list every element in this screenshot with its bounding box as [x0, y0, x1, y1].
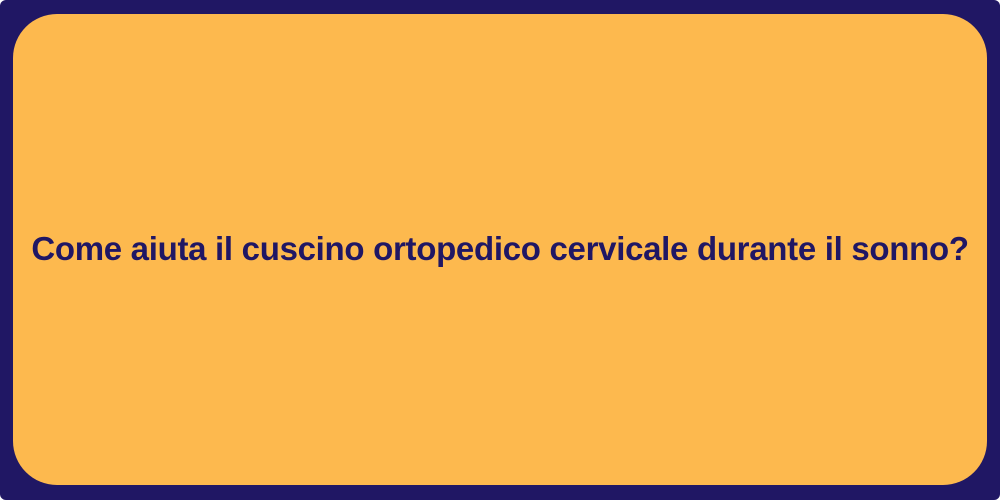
question-card-frame: Come aiuta il cuscino ortopedico cervica…: [0, 0, 1000, 500]
question-heading: Come aiuta il cuscino ortopedico cervica…: [31, 228, 968, 271]
question-card-panel: Come aiuta il cuscino ortopedico cervica…: [13, 14, 987, 485]
